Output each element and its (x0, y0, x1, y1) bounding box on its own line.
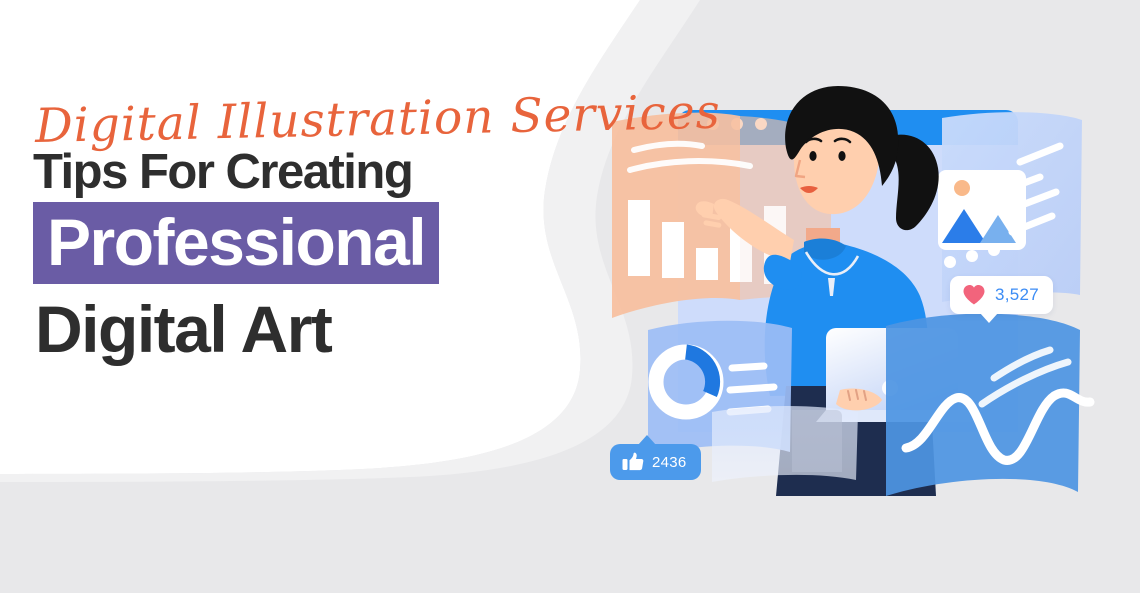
eye-left (809, 151, 816, 161)
heart-badge[interactable]: 3,527 (950, 276, 1053, 314)
like-count: 2436 (652, 454, 687, 471)
headline-block: Digital Illustration Services Tips For C… (33, 100, 553, 366)
headline-line-1: Tips For Creating (33, 146, 553, 198)
eye-right (838, 151, 845, 161)
like-badge[interactable]: 2436 (610, 444, 701, 480)
heart-icon (962, 284, 986, 306)
thumbs-up-icon (622, 452, 644, 472)
sun-icon (954, 180, 970, 196)
banner-root: Digital Illustration Services Tips For C… (0, 0, 1140, 593)
heart-badge-tail (980, 313, 998, 323)
headline-line-2-wrapper: Professional (33, 202, 553, 284)
line-chart-panel (886, 314, 1090, 496)
like-badge-tail (638, 435, 656, 445)
translucent-panel (712, 406, 858, 482)
heart-count: 3,527 (995, 285, 1039, 305)
headline-highlight: Professional (33, 202, 439, 284)
photo-card-panel (938, 112, 1082, 302)
script-headline: Digital Illustration Services (34, 89, 553, 154)
headline-line-3: Digital Art (35, 292, 553, 366)
